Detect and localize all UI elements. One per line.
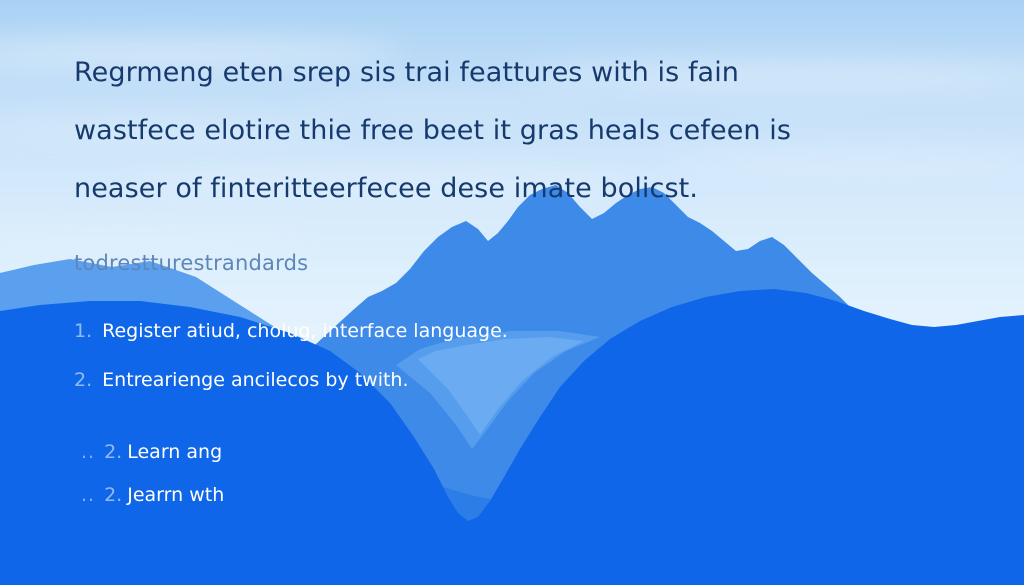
list-item-marker: 1.	[74, 307, 92, 356]
numbered-list: 1. Register atiud, cholug, interface lan…	[74, 307, 950, 517]
subheading: todrestturestrandards	[74, 250, 950, 276]
list-item-marker: 2.	[104, 431, 122, 474]
list-item: 2. Entrearienge ancilecos by twith.	[74, 356, 950, 405]
list-gap	[74, 405, 950, 431]
headline-line-1: Regrmeng eten srep sis trai feattures wi…	[74, 44, 950, 102]
list-item-label: Register atiud, cholug, interface langua…	[102, 307, 508, 356]
list-item: .. 2. Learn ang	[74, 431, 950, 474]
list-item-marker: 2.	[74, 356, 92, 405]
list-item-leader-dots: ..	[81, 431, 95, 474]
headline-line-3: neaser of finteritteerfecee dese imate b…	[74, 160, 950, 218]
list-item-label: Jearrn wth	[127, 474, 224, 517]
list-item: .. 2. Jearrn wth	[74, 474, 950, 517]
slide-canvas: Regrmeng eten srep sis trai feattures wi…	[0, 0, 1024, 585]
list-item-label: Entrearienge ancilecos by twith.	[102, 356, 408, 405]
list-item: 1. Register atiud, cholug, interface lan…	[74, 307, 950, 356]
list-item-leader-dots: ..	[81, 474, 95, 517]
list-item-label: Learn ang	[127, 431, 222, 474]
headline-line-2: wastfece elotire thie free beet it gras …	[74, 102, 950, 160]
list-item-marker: 2.	[104, 474, 122, 517]
slide-content: Regrmeng eten srep sis trai feattures wi…	[0, 0, 1024, 585]
